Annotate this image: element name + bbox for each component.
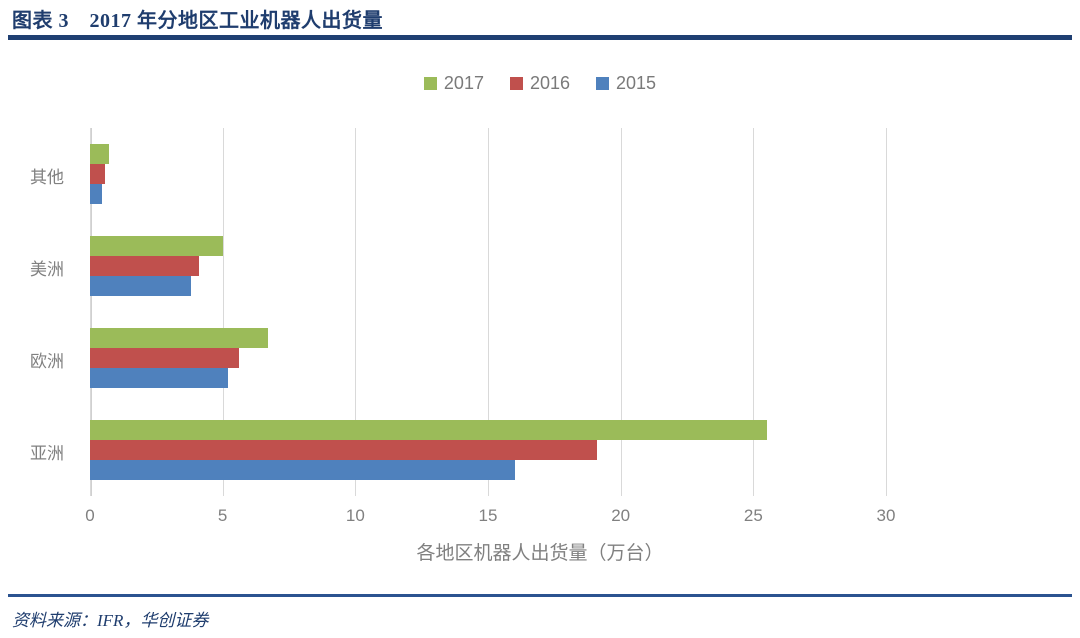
bar-美洲-2017[interactable] <box>90 236 223 256</box>
x-tick-30: 30 <box>877 506 896 526</box>
legend-item-2017[interactable]: 2017 <box>424 74 484 92</box>
bar-亚洲-2016[interactable] <box>90 440 597 460</box>
y-axis-label-其他: 其他 <box>0 163 64 188</box>
legend-swatch-2017 <box>424 77 437 90</box>
y-axis-label-美洲: 美洲 <box>0 255 64 280</box>
bar-其他-2015[interactable] <box>90 184 102 204</box>
legend-item-2015[interactable]: 2015 <box>596 74 656 92</box>
chart-legend: 2017 2016 2015 <box>0 68 1080 98</box>
page-title: 图表 3 2017 年分地区工业机器人出货量 <box>12 4 383 33</box>
source-note: 资料来源：IFR，华创证券 <box>12 606 208 631</box>
x-tick-0: 0 <box>85 506 94 526</box>
chart-plot-wrapper: 其他美洲欧洲亚洲 051015202530 各地区机器人出货量（万台） <box>0 108 1080 578</box>
bar-group <box>90 420 886 480</box>
legend-item-2016[interactable]: 2016 <box>510 74 570 92</box>
bar-group <box>90 328 886 388</box>
bar-group <box>90 144 886 204</box>
x-tick-20: 20 <box>611 506 630 526</box>
chart-plot-area <box>90 128 886 496</box>
y-axis-label-亚洲: 亚洲 <box>0 439 64 464</box>
legend-swatch-2016 <box>510 77 523 90</box>
legend-swatch-2015 <box>596 77 609 90</box>
footer-divider <box>8 594 1072 597</box>
legend-label-2015: 2015 <box>616 74 656 92</box>
x-tick-15: 15 <box>479 506 498 526</box>
bar-欧洲-2016[interactable] <box>90 348 239 368</box>
bar-欧洲-2015[interactable] <box>90 368 228 388</box>
x-tick-5: 5 <box>218 506 227 526</box>
bar-亚洲-2017[interactable] <box>90 420 767 440</box>
bar-其他-2017[interactable] <box>90 144 109 164</box>
bar-美洲-2016[interactable] <box>90 256 199 276</box>
bar-其他-2016[interactable] <box>90 164 105 184</box>
x-tick-10: 10 <box>346 506 365 526</box>
bar-美洲-2015[interactable] <box>90 276 191 296</box>
exhibit-header: 图表 3 2017 年分地区工业机器人出货量 <box>0 0 1080 42</box>
x-axis-title: 各地区机器人出货量（万台） <box>0 538 1080 565</box>
legend-label-2017: 2017 <box>444 74 484 92</box>
bar-group <box>90 236 886 296</box>
bar-欧洲-2017[interactable] <box>90 328 268 348</box>
gridline <box>886 128 887 496</box>
bar-亚洲-2015[interactable] <box>90 460 515 480</box>
x-tick-25: 25 <box>744 506 763 526</box>
legend-label-2016: 2016 <box>530 74 570 92</box>
title-divider <box>8 35 1072 40</box>
y-axis-label-欧洲: 欧洲 <box>0 347 64 372</box>
